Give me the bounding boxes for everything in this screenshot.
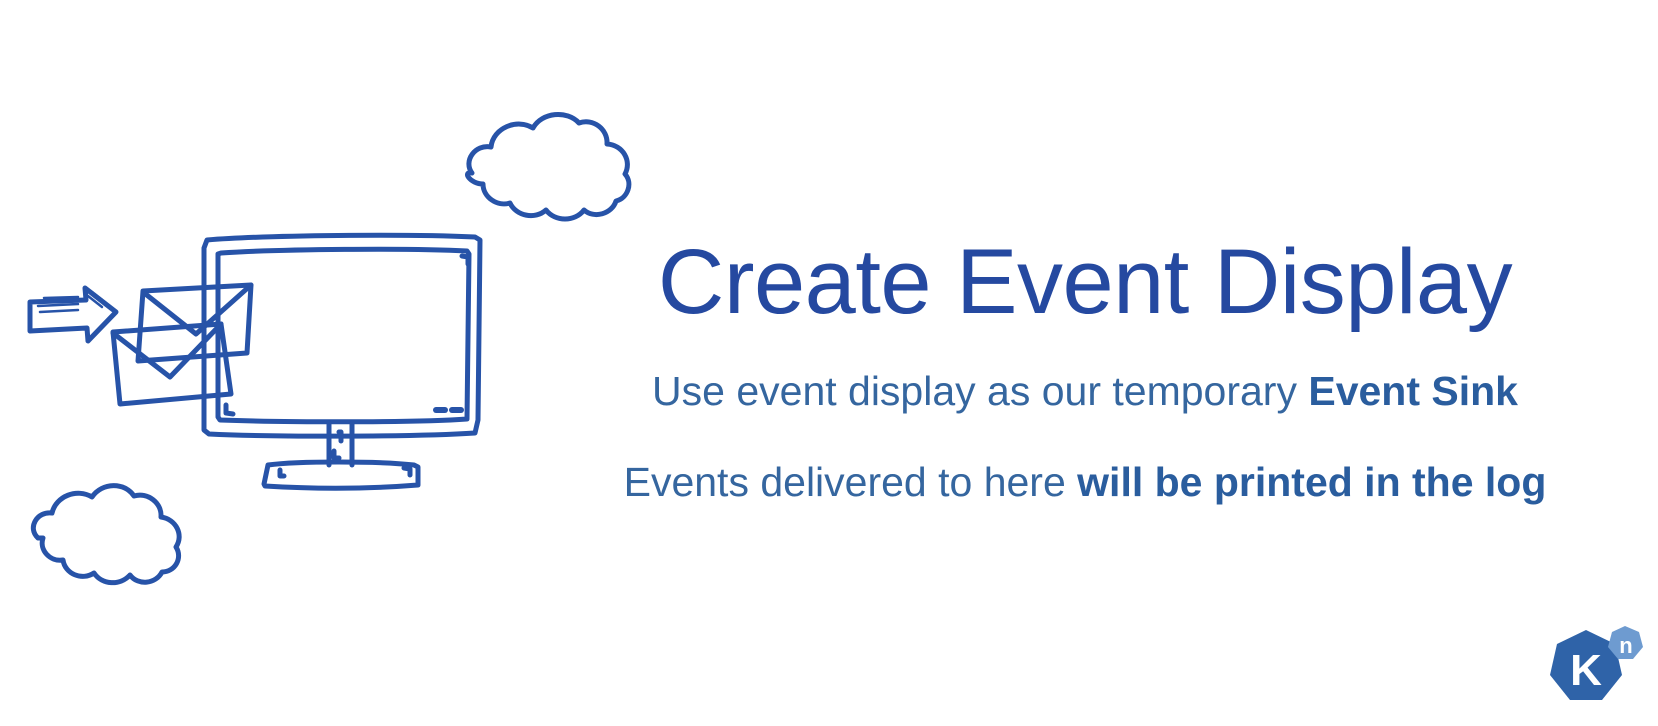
slide-root: Create Event Display Use event display a… xyxy=(0,0,1658,726)
cloud-bottom-icon xyxy=(33,486,179,583)
subtitle-line-2: Events delivered to here will be printed… xyxy=(570,459,1600,506)
arrow-right-icon xyxy=(30,288,116,341)
knative-logo-k: K xyxy=(1570,646,1602,695)
subtitle-line-2-bold: will be printed in the log xyxy=(1077,459,1546,505)
knative-logo: K n xyxy=(1543,618,1651,718)
subtitle-line-1-bold: Event Sink xyxy=(1308,368,1518,414)
monitor-icon xyxy=(204,235,480,488)
page-title: Create Event Display xyxy=(570,236,1600,330)
knative-logo-n: n xyxy=(1619,633,1632,658)
subtitle-line-1-plain: Use event display as our temporary xyxy=(652,368,1308,414)
cloud-top-icon xyxy=(468,114,629,219)
slide-text-block: Create Event Display Use event display a… xyxy=(570,236,1600,556)
envelope-front-icon xyxy=(113,324,231,404)
subtitle-line-2-plain: Events delivered to here xyxy=(624,459,1078,505)
subtitle-line-1: Use event display as our temporary Event… xyxy=(570,368,1600,415)
